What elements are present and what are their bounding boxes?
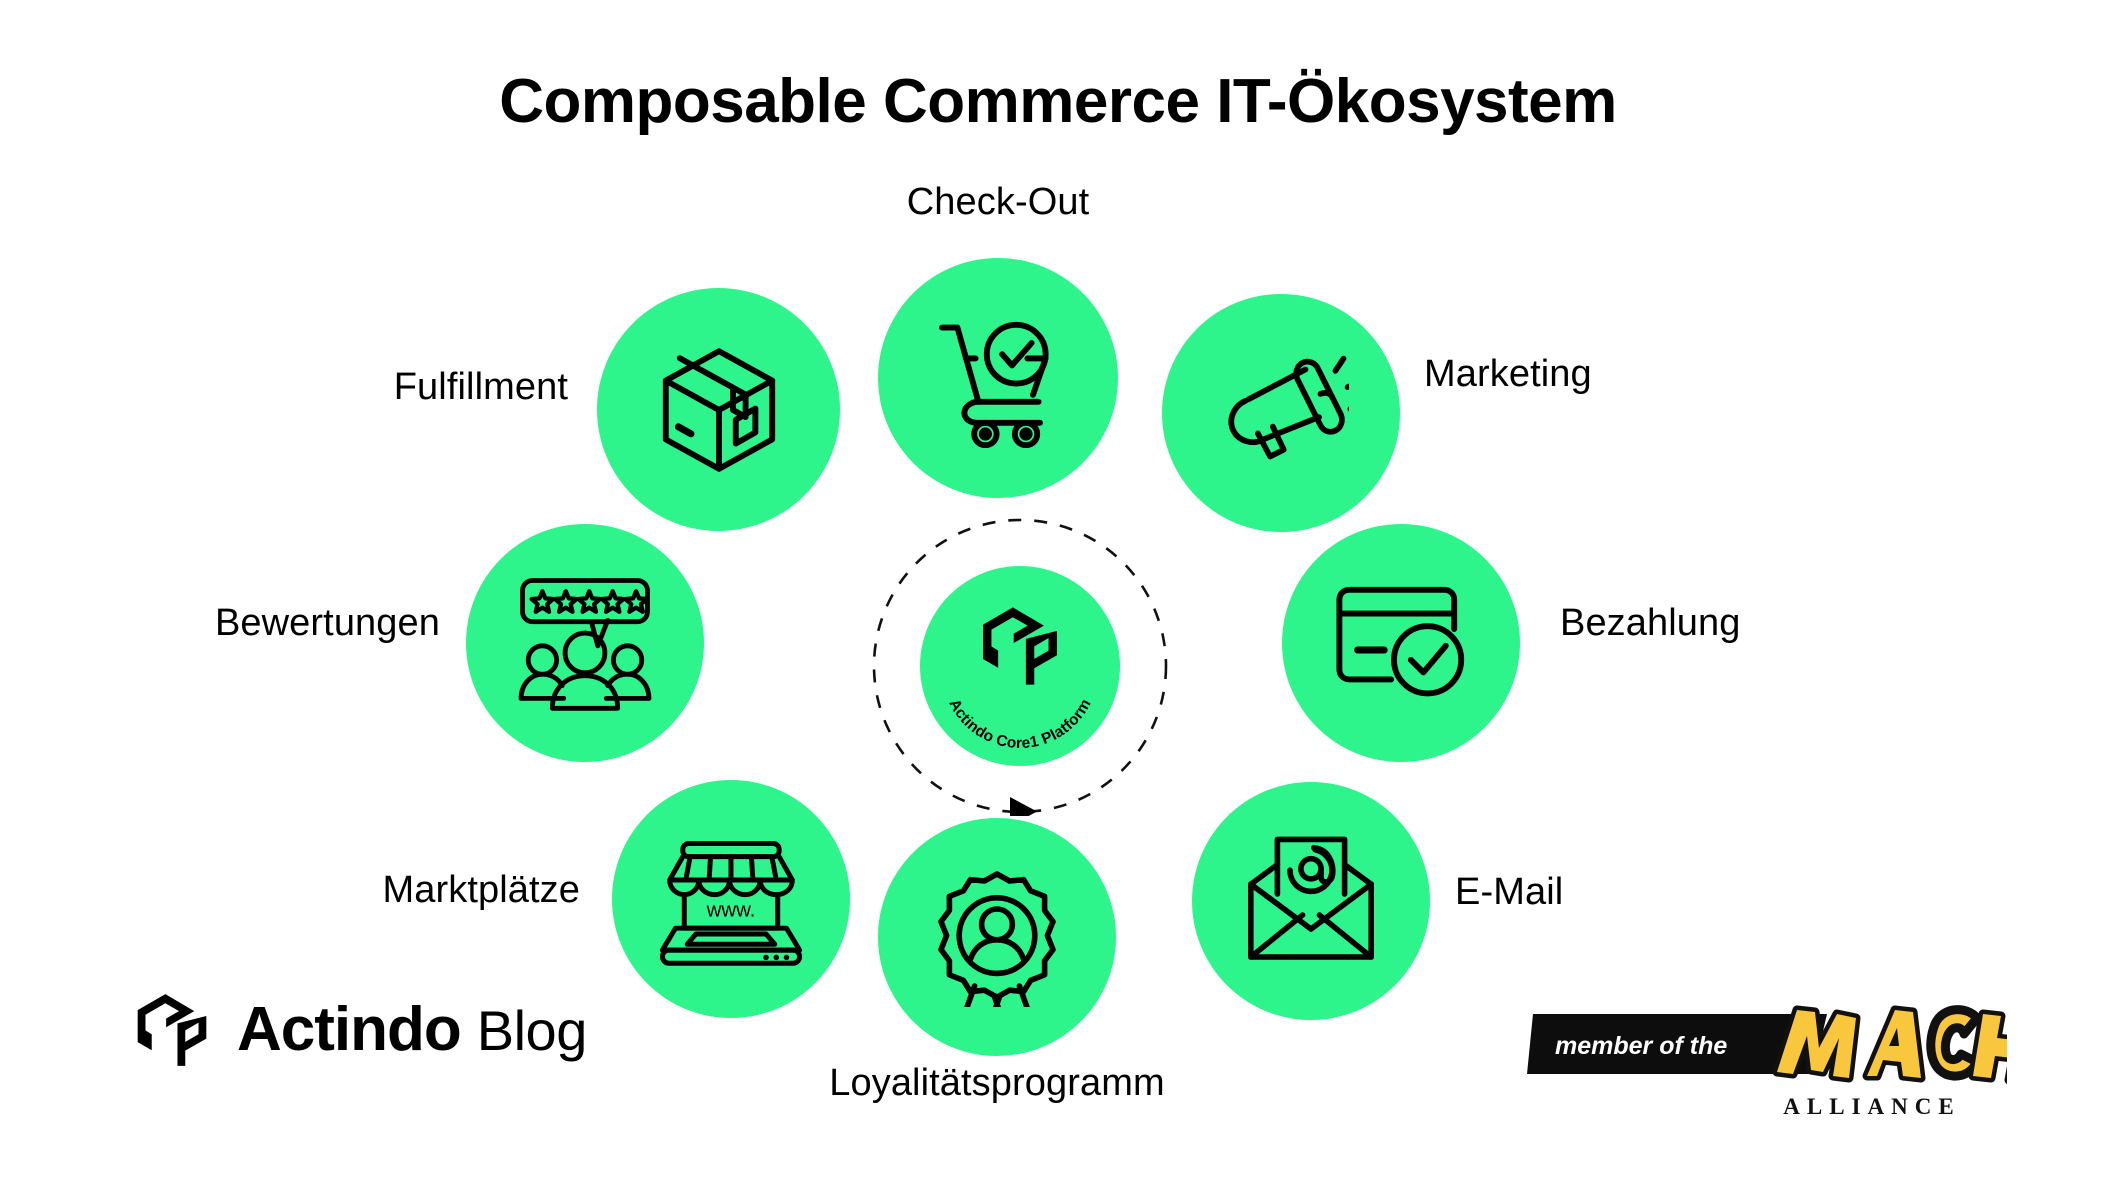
- node-circle-bewertungen[interactable]: [466, 524, 704, 762]
- node-label-bezahlung: Bezahlung: [1560, 604, 2030, 642]
- hub-label-arc: Actindo Core1 Platform: [920, 566, 1120, 766]
- node-circle-e-mail[interactable]: [1192, 782, 1430, 1020]
- diagram-canvas: Composable Commerce IT-Ökosystem Fulfill…: [0, 0, 2116, 1184]
- node-label-bewertungen: Bewertungen: [0, 604, 440, 642]
- node-label-check-out: Check-Out: [798, 183, 1198, 221]
- center-hub[interactable]: Actindo Core1 Platform: [870, 516, 1170, 816]
- package-box-icon: [649, 340, 789, 480]
- five-star-review-icon: [514, 572, 656, 714]
- shopping-cart-check-icon: [928, 308, 1068, 448]
- node-label-marktplaetze: Marktplätze: [120, 871, 580, 909]
- brand-suffix: Blog: [477, 1003, 587, 1059]
- mach-badge-graphic: member of the ALLIANCE: [1527, 992, 2007, 1124]
- arrow-triangle-icon: [1010, 797, 1037, 816]
- award-badge-person-icon: [927, 867, 1067, 1007]
- online-shop-laptop-icon: www.: [658, 826, 804, 972]
- node-circle-loyalitaetsprogramm[interactable]: [878, 818, 1116, 1056]
- mach-wordmark: [1777, 1010, 2007, 1082]
- brand-name: Actindo: [237, 999, 461, 1061]
- envelope-at-icon: [1241, 831, 1381, 971]
- node-label-e-mail: E-Mail: [1455, 873, 1895, 911]
- actindo-cube-icon: [133, 988, 211, 1072]
- node-circle-bezahlung[interactable]: [1282, 524, 1520, 762]
- node-circle-check-out[interactable]: [878, 258, 1118, 498]
- svg-text:Actindo Core1 Platform: Actindo Core1 Platform: [945, 696, 1094, 752]
- mach-alliance-badge[interactable]: member of the ALLIANCE: [1527, 992, 2007, 1124]
- marketplace-icon-text: www.: [706, 899, 756, 922]
- page-title: Composable Commerce IT-Ökosystem: [0, 66, 2116, 137]
- node-label-marketing: Marketing: [1424, 355, 1884, 393]
- credit-card-check-icon: [1331, 573, 1471, 713]
- megaphone-icon: [1213, 345, 1349, 481]
- brand-text: Actindo Blog: [237, 999, 587, 1061]
- node-label-fulfillment: Fulfillment: [100, 368, 568, 406]
- node-circle-fulfillment[interactable]: [597, 288, 840, 531]
- mach-badge-prefix: member of the: [1555, 1032, 1727, 1060]
- mach-badge-subtitle: ALLIANCE: [1783, 1094, 1960, 1119]
- node-circle-marktplaetze[interactable]: www.: [612, 780, 850, 1018]
- brand-logo[interactable]: Actindo Blog: [133, 987, 587, 1073]
- node-label-loyalitaetsprogramm: Loyalitätsprogramm: [697, 1064, 1297, 1102]
- node-circle-marketing[interactable]: [1162, 294, 1400, 532]
- hub-label-text: Actindo Core1 Platform: [945, 696, 1094, 752]
